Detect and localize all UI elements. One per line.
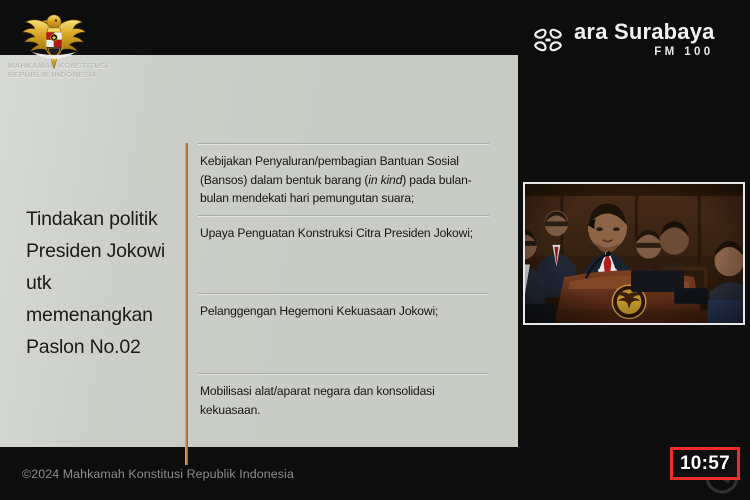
- presentation-slide: MAHKAMAH KONSTITUSI REPUBLIK INDONESIA T…: [0, 55, 518, 447]
- bullet-emphasis: in kind: [368, 173, 402, 187]
- footer-copyright: ©2024 Mahkamah Konstitusi Republik Indon…: [22, 467, 294, 481]
- institution-wordmark-line2: REPUBLIK INDONESIA: [8, 70, 158, 79]
- slide-heading: Tindakan politik Presiden Jokowi utk mem…: [26, 203, 178, 363]
- broadcast-screen: MAHKAMAH KONSTITUSI REPUBLIK INDONESIA T…: [0, 0, 750, 500]
- broadcaster-name: ara Surabaya: [574, 20, 715, 44]
- broadcaster-logo: ara Surabaya FM 100: [531, 20, 715, 59]
- video-inset[interactable]: [523, 182, 745, 325]
- bullet-separator: [198, 143, 489, 144]
- video-inset-frame: [525, 184, 743, 324]
- bullet-separator: [198, 215, 489, 216]
- suara-surabaya-mark-icon: [531, 25, 565, 55]
- bullet-separator: [198, 373, 489, 374]
- garuda-pancasila-emblem-icon: [18, 8, 90, 70]
- slide-bullet-text: Pelanggengan Hegemoni Kekuasaan Jokowi;: [200, 302, 490, 321]
- broadcaster-logo-text: ara Surabaya FM 100: [574, 20, 715, 59]
- slide-bullet-text: Kebijakan Penyaluran/pembagian Bantuan S…: [200, 152, 490, 208]
- slide-bullet-list: Kebijakan Penyaluran/pembagian Bantuan S…: [198, 143, 498, 465]
- slide-bullet-text: Mobilisasi alat/aparat negara dan konsol…: [200, 382, 490, 419]
- broadcaster-frequency: FM 100: [654, 45, 713, 59]
- countdown-timer-badge: 10:57: [670, 447, 740, 480]
- accent-vertical-rule: [185, 143, 188, 465]
- bullet-separator: [198, 293, 489, 294]
- slide-bullet-text: Upaya Penguatan Konstruksi Citra Preside…: [200, 224, 490, 243]
- countdown-timer-value: 10:57: [680, 453, 730, 475]
